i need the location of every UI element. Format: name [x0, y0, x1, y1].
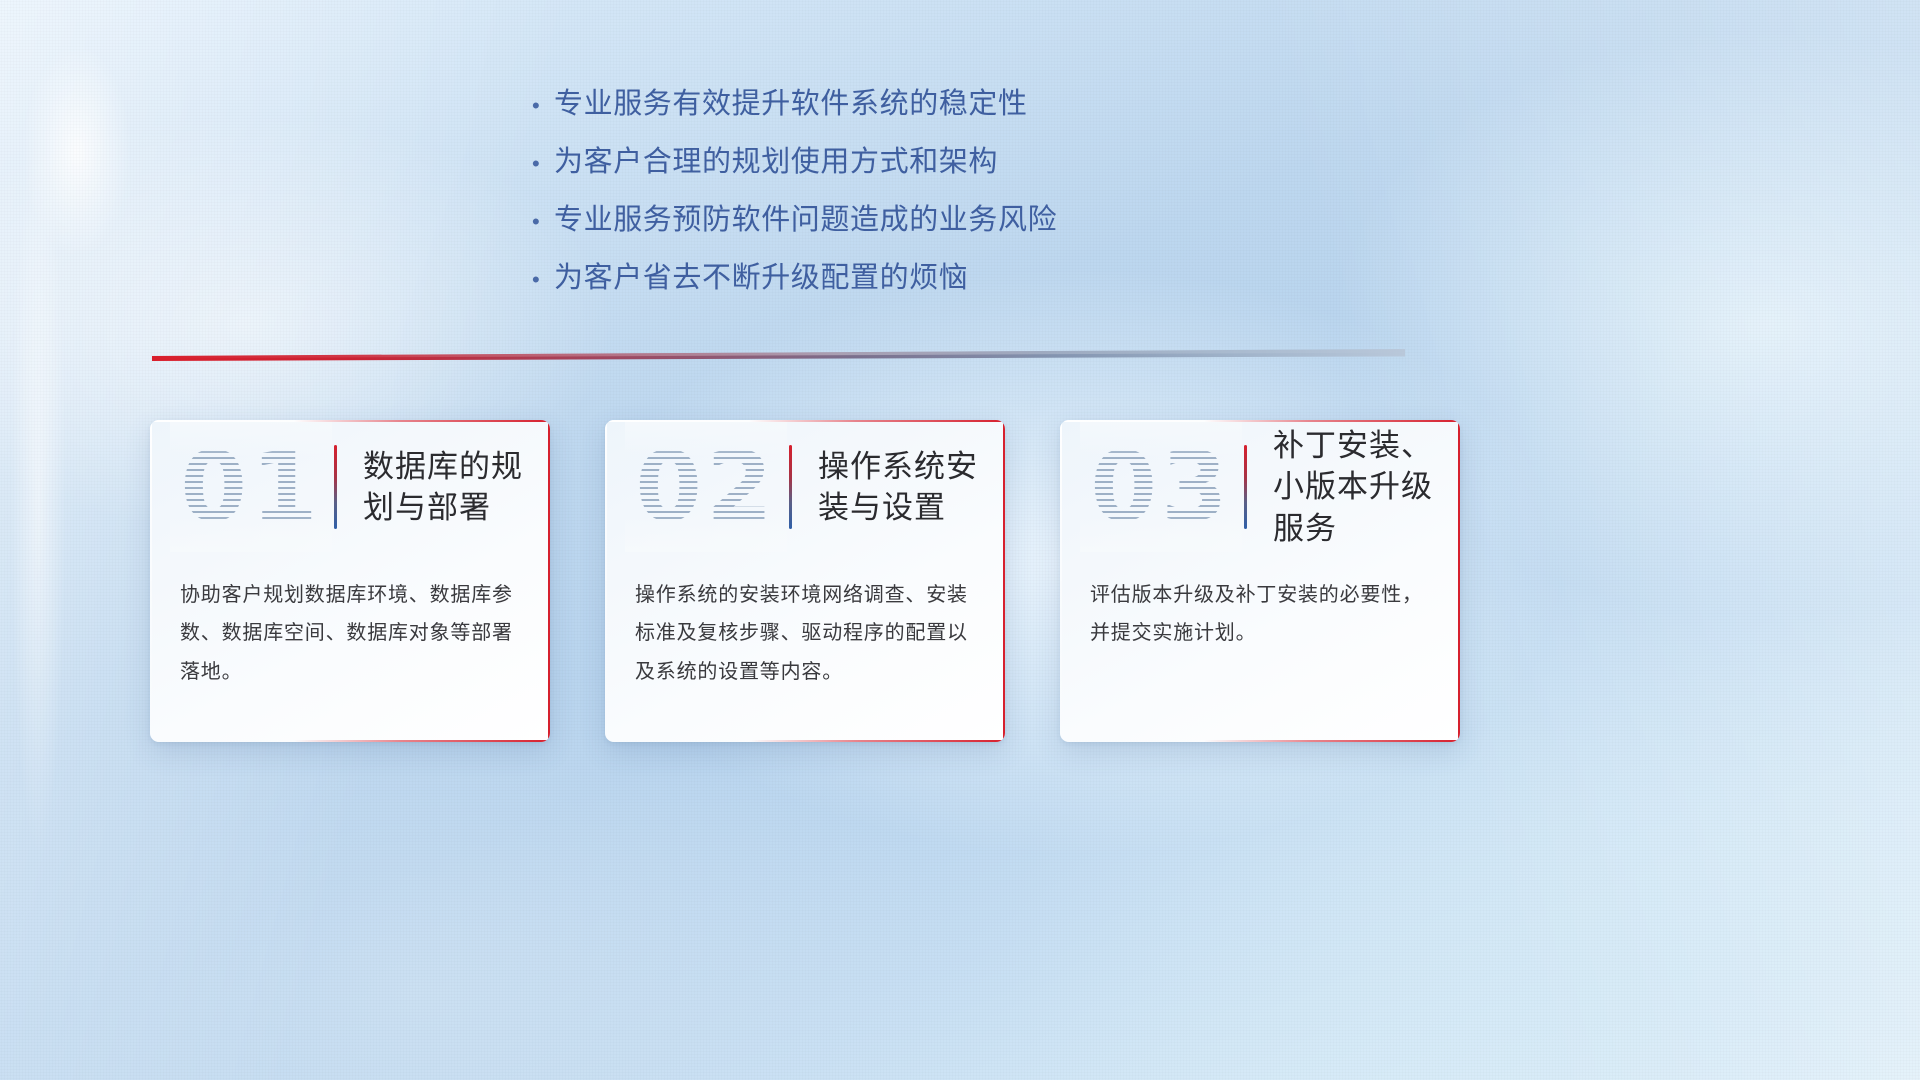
bullet-item-text: 为客户省去不断升级配置的烦恼 — [554, 260, 968, 297]
bullet-item: • 为客户合理的规划使用方式和架构 — [520, 144, 1420, 181]
card-number-text: 03 — [1090, 439, 1232, 535]
card-header: 01 数据库的规划与部署 — [150, 420, 550, 554]
feature-card-03[interactable]: 03 补丁安装、小版本升级服务 评估版本升级及补丁安装的必要性，并提交实施计划。 — [1060, 420, 1460, 742]
card-number-watermark: 02 — [631, 428, 781, 546]
bullet-item: • 专业服务预防软件问题造成的业务风险 — [520, 202, 1420, 239]
feature-card-01[interactable]: 01 数据库的规划与部署 协助客户规划数据库环境、数据库参数、数据库空间、数据库… — [150, 420, 550, 742]
bullet-marker-icon: • — [520, 211, 554, 233]
bullet-item: • 为客户省去不断升级配置的烦恼 — [520, 260, 1420, 297]
card-title: 操作系统安装与设置 — [818, 446, 1005, 528]
card-title-accent-bar — [1244, 445, 1247, 529]
card-header: 02 操作系统安装与设置 — [605, 420, 1005, 554]
section-divider — [152, 349, 1405, 361]
bullet-list: • 专业服务有效提升软件系统的稳定性 • 为客户合理的规划使用方式和架构 • 专… — [520, 86, 1420, 318]
card-accent-bottom — [294, 740, 550, 742]
card-number-text: 01 — [180, 439, 322, 535]
bullet-item-text: 专业服务有效提升软件系统的稳定性 — [554, 86, 1028, 123]
bullet-marker-icon: • — [520, 269, 554, 291]
card-number-watermark: 01 — [176, 428, 326, 546]
card-accent-bottom — [1204, 740, 1460, 742]
card-title: 补丁安装、小版本升级服务 — [1273, 425, 1460, 549]
bullet-item: • 专业服务有效提升软件系统的稳定性 — [520, 86, 1420, 123]
card-title-accent-bar — [789, 445, 792, 529]
card-title: 数据库的规划与部署 — [363, 446, 550, 528]
card-number-watermark: 03 — [1086, 428, 1236, 546]
card-body-text: 评估版本升级及补丁安装的必要性，并提交实施计划。 — [1060, 554, 1460, 653]
card-body-text: 操作系统的安装环境网络调查、安装标准及复核步骤、驱动程序的配置以及系统的设置等内… — [605, 554, 1005, 691]
card-title-accent-bar — [334, 445, 337, 529]
card-header: 03 补丁安装、小版本升级服务 — [1060, 420, 1460, 554]
bullet-marker-icon: • — [520, 153, 554, 175]
bullet-item-text: 专业服务预防软件问题造成的业务风险 — [554, 202, 1057, 239]
card-number-text: 02 — [635, 439, 777, 535]
bullet-item-text: 为客户合理的规划使用方式和架构 — [554, 144, 998, 181]
bullet-marker-icon: • — [520, 95, 554, 117]
card-body-text: 协助客户规划数据库环境、数据库参数、数据库空间、数据库对象等部署落地。 — [150, 554, 550, 691]
feature-card-row: 01 数据库的规划与部署 协助客户规划数据库环境、数据库参数、数据库空间、数据库… — [150, 420, 1460, 745]
feature-card-02[interactable]: 02 操作系统安装与设置 操作系统的安装环境网络调查、安装标准及复核步骤、驱动程… — [605, 420, 1005, 742]
card-accent-bottom — [749, 740, 1005, 742]
